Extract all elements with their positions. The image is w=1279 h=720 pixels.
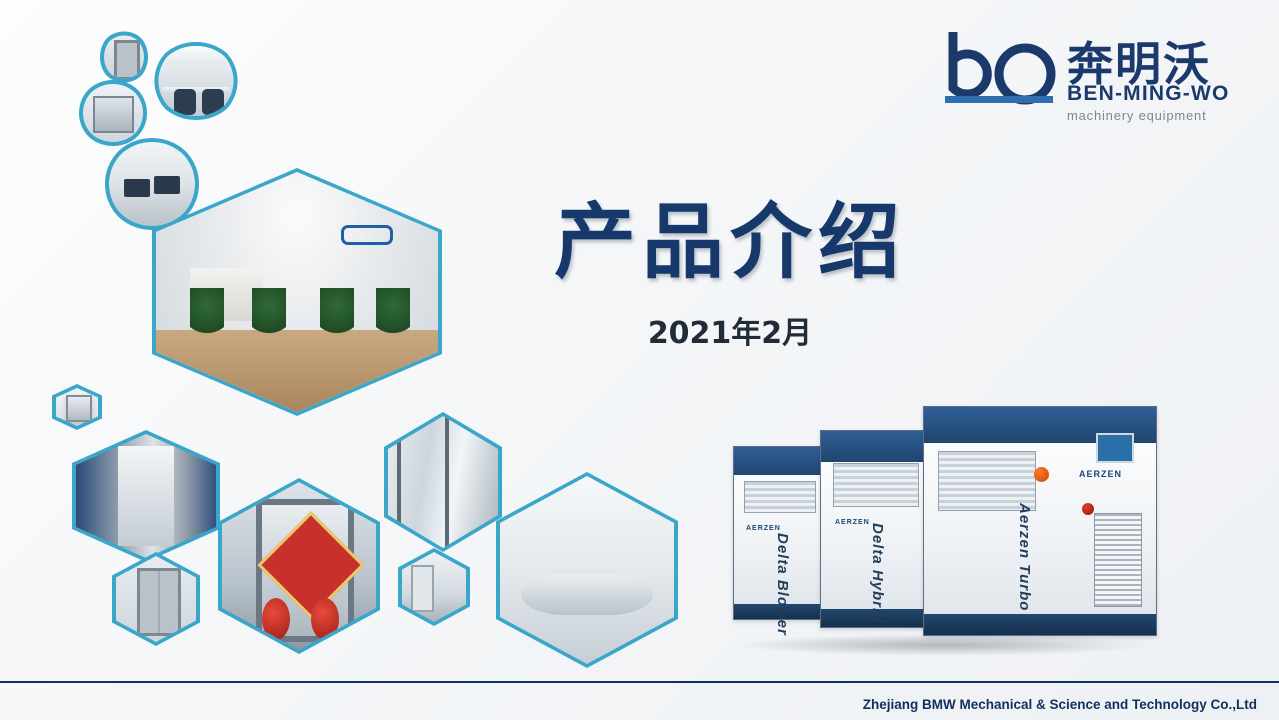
unit-brand-label: AERZEN bbox=[835, 519, 870, 526]
photo-hex-elevator-lobby bbox=[100, 30, 148, 84]
photo-hex-glass-partition bbox=[384, 412, 502, 552]
photo-hex-equipment-cabinet bbox=[112, 552, 200, 646]
workstation-photo bbox=[82, 84, 144, 142]
glass-partition-photo bbox=[388, 416, 498, 548]
equipment-cabinet-photo bbox=[116, 556, 196, 642]
emergency-stop-icon[interactable] bbox=[1034, 467, 1049, 482]
unit-brand-label: AERZEN bbox=[1079, 469, 1122, 479]
control-panel-screen[interactable] bbox=[1096, 433, 1134, 463]
office-room-photo bbox=[156, 46, 236, 116]
unit-model-label: Delta Blower bbox=[774, 533, 791, 636]
photo-hex-open-office bbox=[496, 472, 678, 668]
footer-divider bbox=[0, 681, 1279, 683]
slide-date: 2021年2月 bbox=[520, 308, 940, 352]
photo-hex-entrance-door bbox=[218, 478, 380, 654]
photo-hex-corridor bbox=[72, 430, 220, 562]
photo-hex-workstation bbox=[78, 80, 148, 146]
footer-company-name: Zhejiang BMW Mechanical & Science and Te… bbox=[863, 697, 1257, 712]
reception-hall-photo bbox=[156, 172, 438, 412]
open-office-photo bbox=[500, 476, 674, 664]
control-knob-icon[interactable] bbox=[1082, 503, 1094, 515]
unit-brand-label: AERZEN bbox=[746, 525, 781, 532]
machine-unit-delta-blower: AERZEN Delta Blower bbox=[733, 446, 827, 620]
logo-tagline: machinery equipment bbox=[1067, 108, 1207, 123]
machine-unit-delta-hybrid: AERZEN Delta Hybrid bbox=[820, 430, 930, 628]
elevator-lobby-photo bbox=[104, 34, 144, 80]
photo-hex-hallway-door bbox=[398, 548, 470, 626]
entrance-door-photo bbox=[222, 482, 376, 650]
slide-title: 产品介绍 bbox=[520, 175, 940, 294]
machine-shadow bbox=[733, 634, 1153, 656]
printer-corner-photo bbox=[56, 388, 98, 426]
cooling-grille bbox=[1094, 513, 1142, 607]
machine-unit-aerzen-turbo: AERZEN Aerzen Turbo bbox=[923, 406, 1157, 636]
staff-working-photo bbox=[108, 142, 196, 226]
corridor-photo bbox=[76, 434, 216, 558]
unit-model-label: Delta Hybrid bbox=[869, 523, 886, 623]
unit-model-label: Aerzen Turbo bbox=[1016, 503, 1033, 611]
hallway-door-photo bbox=[402, 552, 466, 622]
bo-monogram-icon bbox=[939, 26, 1059, 108]
photo-hex-printer-corner bbox=[52, 384, 102, 430]
company-logo: 奔明沃 BEN-MING-WO machinery equipment bbox=[939, 22, 1239, 132]
logo-english-name: BEN-MING-WO bbox=[1067, 82, 1230, 106]
presentation-slide: 奔明沃 BEN-MING-WO machinery equipment 产品介绍… bbox=[0, 0, 1279, 720]
photo-hex-reception-hall bbox=[152, 168, 442, 416]
aerzen-blower-lineup: AERZEN Delta Blower AERZEN Delta Hybrid … bbox=[715, 388, 1170, 648]
photo-hex-office-room bbox=[152, 42, 240, 120]
